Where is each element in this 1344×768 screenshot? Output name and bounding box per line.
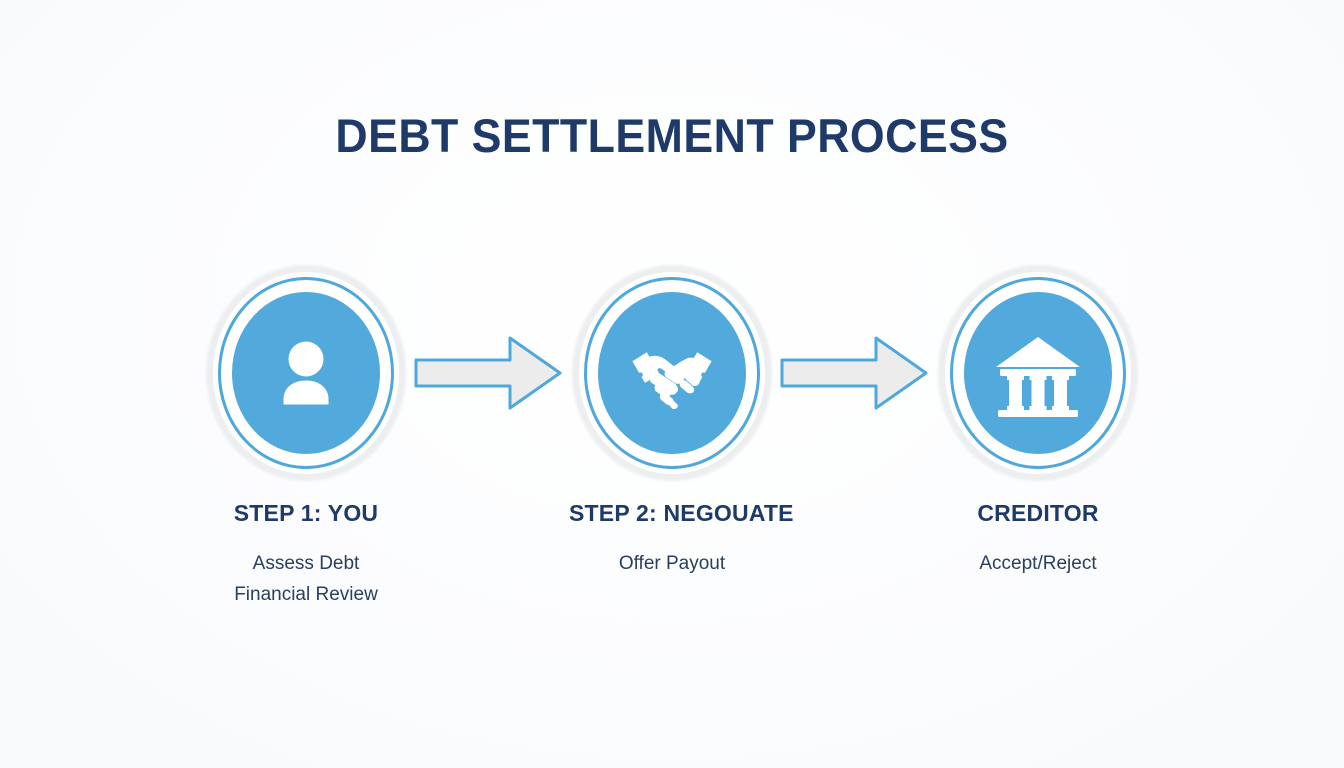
- step-detail-line: Accept/Reject: [935, 549, 1141, 580]
- bank-icon: [992, 329, 1084, 417]
- step-detail-line: Financial Review: [203, 580, 409, 611]
- step-detail-2: Offer Payout: [569, 549, 775, 580]
- arrow-step2-to-step3: [775, 262, 935, 484]
- slide-canvas: DEBT SETTLEMENT PROCESS: [0, 0, 1344, 768]
- handshake-icon: [627, 334, 717, 412]
- node-disc: [232, 292, 380, 454]
- process-flow: [0, 262, 1344, 492]
- step-node-2[interactable]: [569, 262, 775, 484]
- step-caption-2: STEP 2: NEGOUATE Offer Payout: [569, 500, 775, 580]
- node-disc: [964, 292, 1112, 454]
- step-node-1[interactable]: [203, 262, 409, 484]
- step-title-1: STEP 1: YOU: [203, 500, 409, 527]
- arrow-step1-to-step2: [409, 262, 569, 484]
- step-detail-3: Accept/Reject: [935, 549, 1141, 580]
- person-icon: [263, 330, 349, 416]
- step-title-3: CREDITOR: [935, 500, 1141, 527]
- step-caption-1: STEP 1: YOU Assess Debt Financial Review: [203, 500, 409, 611]
- step-detail-line: Assess Debt: [203, 549, 409, 580]
- step-node-3[interactable]: [935, 262, 1141, 484]
- page-title: DEBT SETTLEMENT PROCESS: [34, 108, 1311, 163]
- step-title-2: STEP 2: NEGOUATE: [569, 500, 775, 527]
- step-detail-1: Assess Debt Financial Review: [203, 549, 409, 611]
- node-disc: [598, 292, 746, 454]
- process-captions: STEP 1: YOU Assess Debt Financial Review…: [0, 500, 1344, 650]
- step-detail-line: Offer Payout: [569, 549, 775, 580]
- step-caption-3: CREDITOR Accept/Reject: [935, 500, 1141, 580]
